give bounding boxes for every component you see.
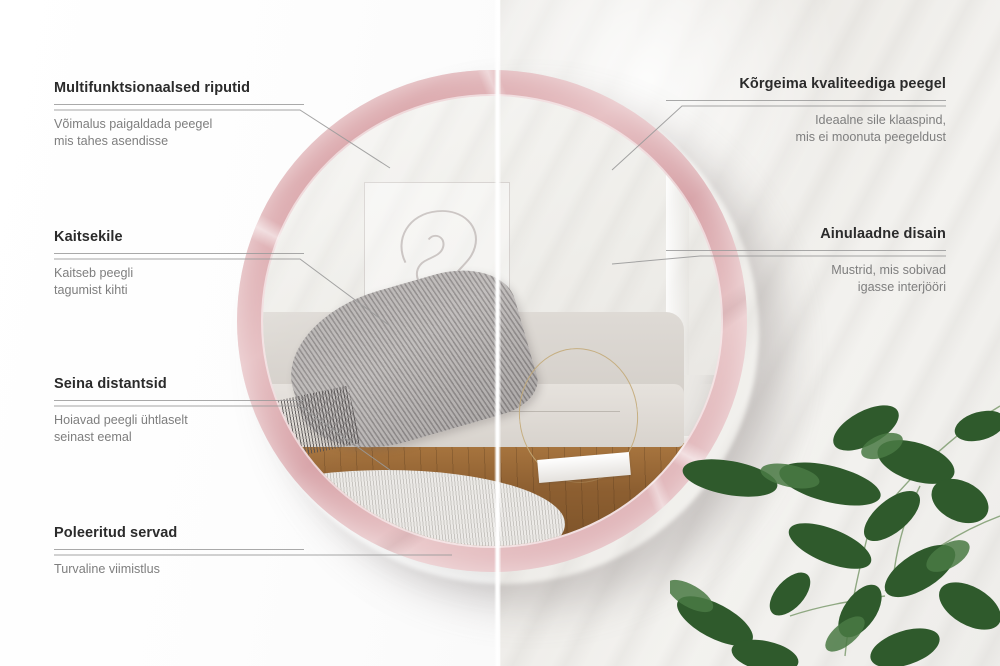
callout-wall-spacers-title: Seina distantsid [54, 376, 304, 392]
callout-polished-edges-desc: Turvaline viimistlus [54, 561, 304, 578]
callout-hangers: Multifunktsionaalsed riputid Võimalus pa… [54, 80, 304, 150]
callout-mirror-glass-title: Kõrgeima kvaliteediga peegel [666, 76, 946, 92]
callout-unique-design: Ainulaadne disain Mustrid, mis sobivad i… [666, 226, 946, 296]
mirror-reflection [263, 96, 721, 546]
callout-wall-spacers-desc: Hoiavad peegli ühtlaselt seinast eemal [54, 412, 304, 446]
callout-protective-film-title: Kaitsekile [54, 229, 304, 245]
callout-unique-design-rule [666, 250, 946, 251]
callout-protective-film-desc: Kaitseb peegli tagumist kihti [54, 265, 304, 299]
callout-unique-design-title: Ainulaadne disain [666, 226, 946, 242]
callout-wall-spacers-rule [54, 400, 304, 401]
callout-polished-edges: Poleeritud servad Turvaline viimistlus [54, 525, 304, 578]
callout-hangers-desc: Võimalus paigaldada peegel mis tahes ase… [54, 116, 304, 150]
callout-hangers-title: Multifunktsionaalsed riputid [54, 80, 304, 96]
callout-polished-edges-title: Poleeritud servad [54, 525, 304, 541]
product-infographic: Multifunktsionaalsed riputid Võimalus pa… [0, 0, 1000, 666]
callout-polished-edges-rule [54, 549, 304, 550]
callout-protective-film: Kaitsekile Kaitseb peegli tagumist kihti [54, 229, 304, 299]
callout-mirror-glass-desc: Ideaalne sile klaaspind, mis ei moonuta … [666, 112, 946, 146]
callout-protective-film-rule [54, 253, 304, 254]
callout-unique-design-desc: Mustrid, mis sobivad igasse interjööri [666, 262, 946, 296]
mirror-glass [263, 96, 721, 546]
callout-wall-spacers: Seina distantsid Hoiavad peegli ühtlasel… [54, 376, 304, 446]
callout-mirror-glass: Kõrgeima kvaliteediga peegel Ideaalne si… [666, 76, 946, 146]
callout-mirror-glass-rule [666, 100, 946, 101]
callout-hangers-rule [54, 104, 304, 105]
foreground-foliage [670, 366, 1000, 666]
